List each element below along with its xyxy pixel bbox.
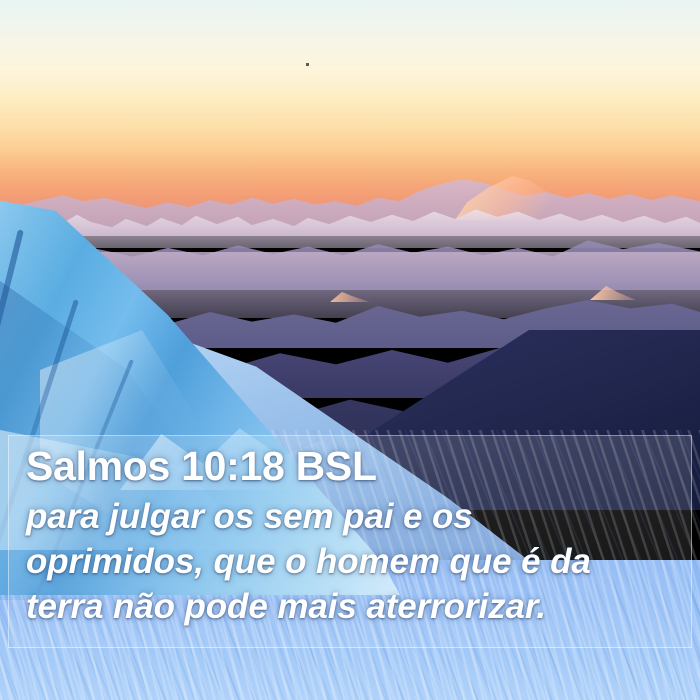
verse-text: para julgar os sem pai e os oprimidos, q…	[26, 494, 675, 629]
bird-speck	[306, 63, 309, 66]
verse-image-canvas: Salmos 10:18 BSL para julgar os sem pai …	[0, 0, 700, 700]
verse-reference: Salmos 10:18 BSL	[26, 442, 675, 490]
verse-overlay-panel: Salmos 10:18 BSL para julgar os sem pai …	[8, 435, 692, 648]
verse-text-line-3: terra não pode mais aterrorizar.	[26, 584, 675, 629]
verse-text-line-2: oprimidos, que o homem que é da	[26, 539, 675, 584]
verse-overlay-content: Salmos 10:18 BSL para julgar os sem pai …	[9, 436, 691, 647]
verse-text-line-1: para julgar os sem pai e os	[26, 494, 675, 539]
